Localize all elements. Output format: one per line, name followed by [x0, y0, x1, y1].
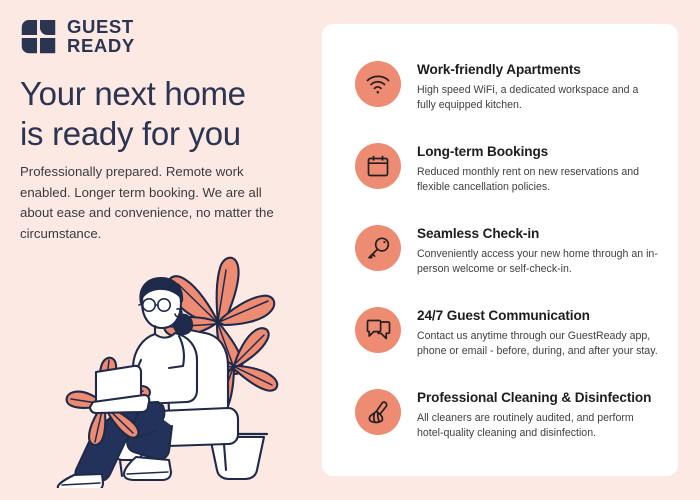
feature-item-seamless-check-in[interactable]: Seamless Check-in Conveniently access yo…: [355, 225, 655, 277]
left-column: GUEST READY Your next home is ready for …: [0, 0, 322, 500]
features-card: Work-friendly Apartments High speed WiFi…: [322, 24, 678, 476]
headline-line-2: is ready for you: [20, 114, 310, 154]
feature-text: Long-term Bookings Reduced monthly rent …: [417, 143, 659, 195]
brand-name-line2: READY: [67, 37, 135, 56]
brand-wordmark: GUEST READY: [67, 18, 135, 55]
feature-item-professional-cleaning[interactable]: Professional Cleaning & Disinfection All…: [355, 389, 655, 441]
key-icon: [355, 225, 401, 271]
calendar-icon: [355, 143, 401, 189]
headline-line-1: Your next home: [20, 74, 310, 114]
feature-description: All cleaners are routinely audited, and …: [417, 411, 659, 441]
hero-illustration: [38, 226, 306, 488]
feature-title: Long-term Bookings: [417, 144, 659, 161]
promo-page: GUEST READY Your next home is ready for …: [0, 0, 700, 500]
laptop-icon: [90, 366, 149, 413]
feature-text: Professional Cleaning & Disinfection All…: [417, 389, 659, 441]
feature-description: Conveniently access your new home throug…: [417, 247, 659, 277]
feature-title: Work-friendly Apartments: [417, 62, 659, 79]
feature-text: Seamless Check-in Conveniently access yo…: [417, 225, 659, 277]
feature-text: 24/7 Guest Communication Contact us anyt…: [417, 307, 659, 359]
brand-name-line1: GUEST: [67, 18, 135, 37]
chat-bubbles-icon: [355, 307, 401, 353]
feature-item-long-term-bookings[interactable]: Long-term Bookings Reduced monthly rent …: [355, 143, 655, 195]
feature-item-guest-communication[interactable]: 24/7 Guest Communication Contact us anyt…: [355, 307, 655, 359]
feature-title: Seamless Check-in: [417, 226, 659, 243]
brand-logo[interactable]: GUEST READY: [20, 18, 135, 55]
broom-icon: [355, 389, 401, 435]
feature-text: Work-friendly Apartments High speed WiFi…: [417, 61, 659, 113]
page-title: Your next home is ready for you: [20, 74, 310, 155]
feature-description: Contact us anytime through our GuestRead…: [417, 329, 659, 359]
feature-title: Professional Cleaning & Disinfection: [417, 390, 659, 407]
wifi-icon: [355, 61, 401, 107]
feature-description: High speed WiFi, a dedicated workspace a…: [417, 83, 659, 113]
feature-description: Reduced monthly rent on new reservations…: [417, 165, 659, 195]
feature-item-work-friendly-apartments[interactable]: Work-friendly Apartments High speed WiFi…: [355, 61, 655, 113]
guestready-quadrant-logo-icon: [20, 18, 57, 55]
feature-title: 24/7 Guest Communication: [417, 308, 659, 325]
